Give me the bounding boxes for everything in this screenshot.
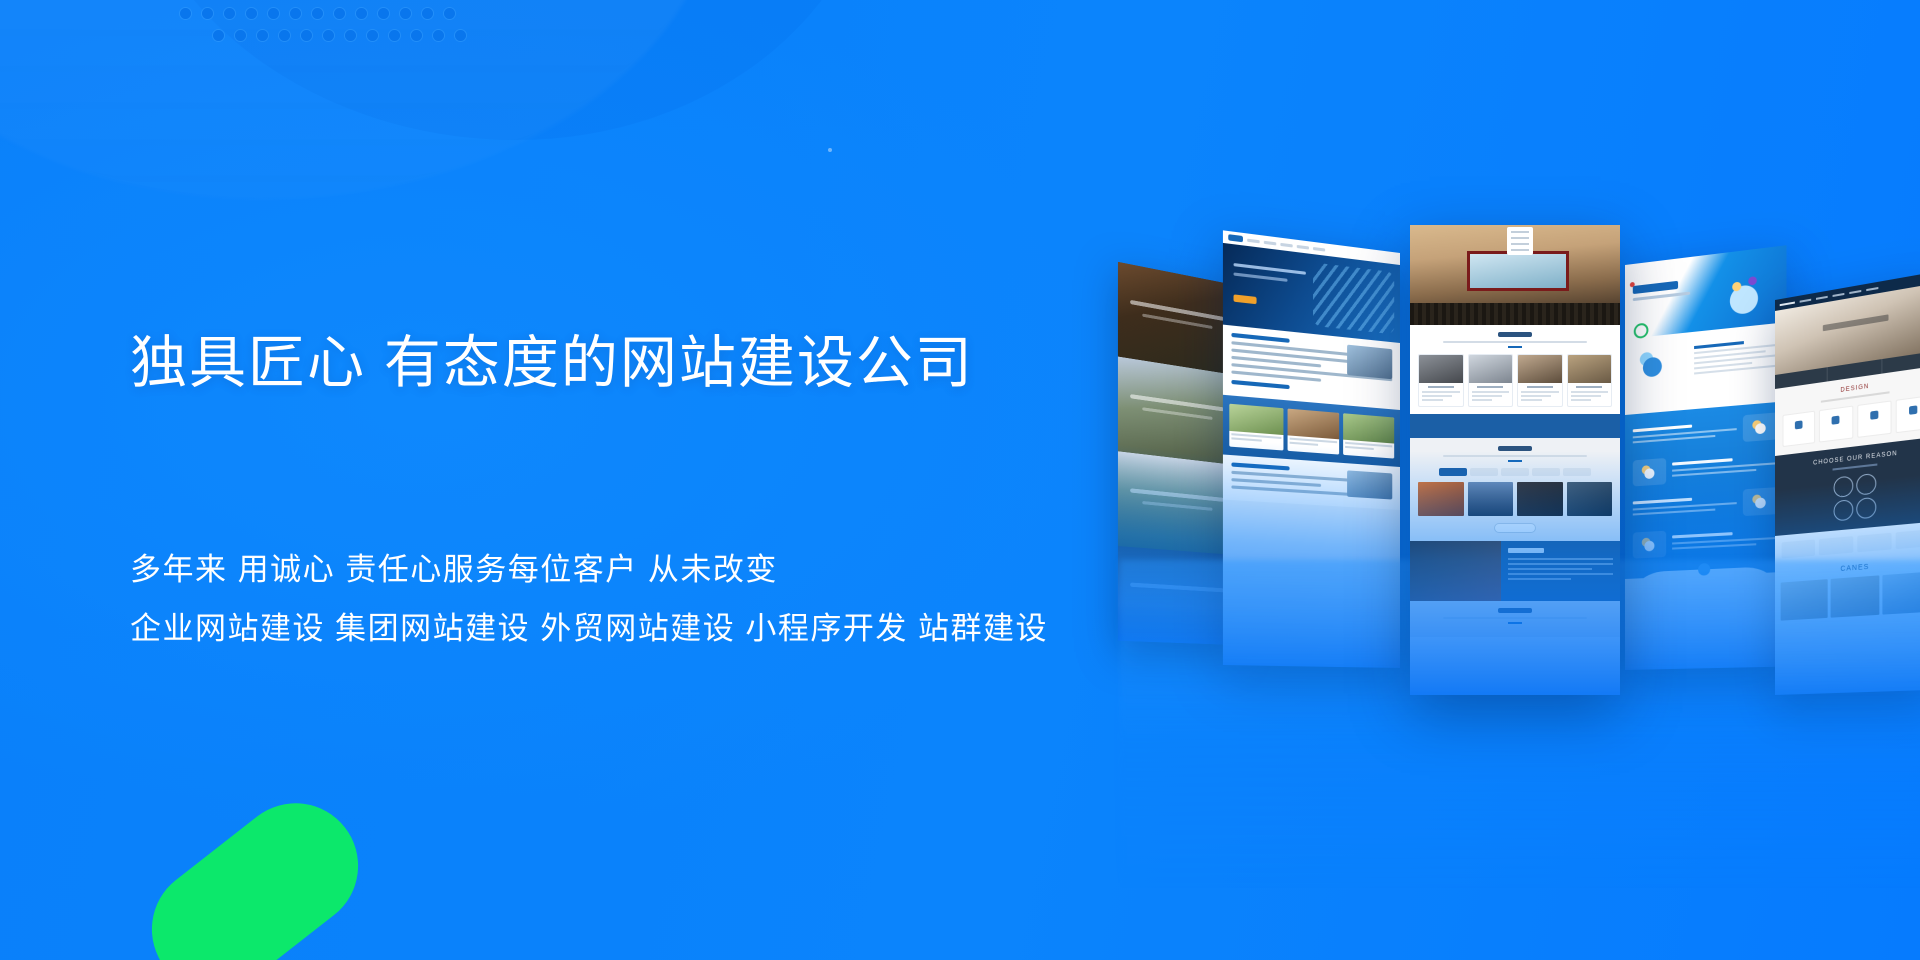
dot xyxy=(224,8,235,19)
subtitle-group: 多年来 用诚心 责任心服务每位客户 从未改变 企业网站建设 集团网站建设 外贸网… xyxy=(130,545,1030,654)
mockup-logo xyxy=(1228,234,1243,242)
section-heading-advantages xyxy=(1498,332,1532,337)
mockup-edu-intro xyxy=(1625,322,1786,415)
mockup-advantages-section xyxy=(1410,325,1620,414)
fade-overlay xyxy=(1410,451,1620,695)
dot xyxy=(422,8,433,19)
edu-brand-title xyxy=(1633,281,1678,294)
dot xyxy=(345,30,356,41)
mockup-thumbnail xyxy=(1347,345,1392,380)
banner-copy: 独具匠心 有态度的网站建设公司 多年来 用诚心 责任心服务每位客户 从未改变 企… xyxy=(130,330,1030,655)
mockup-dropdown-menu xyxy=(1507,227,1533,255)
dot xyxy=(257,30,268,41)
dot xyxy=(389,30,400,41)
dot xyxy=(367,30,378,41)
dot xyxy=(400,8,411,19)
mockup-icon-grid xyxy=(1783,395,1920,447)
aerial-panel-night xyxy=(1118,262,1235,375)
dot xyxy=(213,30,224,41)
edu-intro-illustration xyxy=(1633,346,1672,384)
dot xyxy=(268,8,279,19)
dot xyxy=(301,30,312,41)
dot-grid-pattern xyxy=(180,8,470,50)
banner-stage: 独具匠心 有态度的网站建设公司 多年来 用诚心 责任心服务每位客户 从未改变 企… xyxy=(0,0,1920,960)
dot xyxy=(312,8,323,19)
dna-illustration xyxy=(1313,262,1394,334)
dot xyxy=(433,30,444,41)
subtitle-line-2: 企业网站建设 集团网站建设 外贸网站建设 小程序开发 站群建设 xyxy=(130,604,1030,654)
mockup-hero-auditorium xyxy=(1410,225,1620,325)
dot xyxy=(356,8,367,19)
dot xyxy=(411,30,422,41)
circle-accent-icon xyxy=(1634,322,1649,339)
mockup-auditorium-corporate-website xyxy=(1410,225,1620,695)
dot xyxy=(202,8,213,19)
dot xyxy=(378,8,389,19)
green-rounded-pill xyxy=(127,778,384,960)
dot xyxy=(334,8,345,19)
edu-hero-illustration xyxy=(1708,256,1780,320)
mockup-blue-divider xyxy=(1410,414,1620,438)
dot xyxy=(455,30,466,41)
auditorium-stage-screen xyxy=(1467,251,1570,291)
dot xyxy=(323,30,334,41)
page-title: 独具匠心 有态度的网站建设公司 xyxy=(130,330,1030,397)
dot xyxy=(290,8,301,19)
hero-signage xyxy=(1822,314,1888,331)
speck-highlight-1 xyxy=(828,148,832,152)
list-item xyxy=(1633,412,1778,450)
subtitle-line-1: 多年来 用诚心 责任心服务每位客户 从未改变 xyxy=(130,545,1030,595)
dot xyxy=(180,8,191,19)
dot xyxy=(246,8,257,19)
auditorium-seating xyxy=(1410,303,1620,325)
feature-illustration xyxy=(1743,412,1778,442)
mockup-cta-button xyxy=(1234,294,1257,304)
dot xyxy=(279,30,290,41)
dot xyxy=(235,30,246,41)
dot xyxy=(444,8,455,19)
